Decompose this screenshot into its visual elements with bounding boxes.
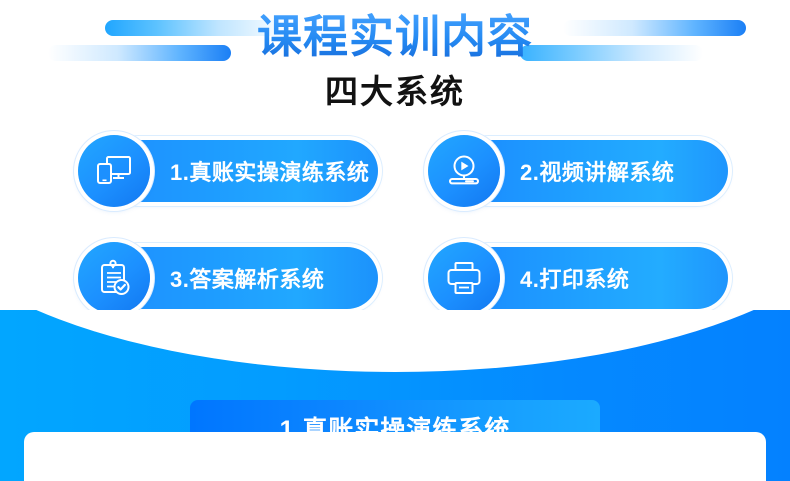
page-title: 课程实训内容 bbox=[0, 8, 790, 66]
system-card-4[interactable]: 4.打印系统 bbox=[428, 247, 728, 309]
video-play-icon bbox=[428, 135, 500, 207]
page-subtitle: 四大系统 bbox=[0, 70, 790, 114]
monitor-devices-icon bbox=[78, 135, 150, 207]
clipboard-check-icon bbox=[78, 242, 150, 314]
system-label-2: 2.视频讲解系统 bbox=[520, 155, 674, 187]
bottom-content-panel bbox=[24, 432, 766, 481]
system-card-2[interactable]: 2.视频讲解系统 bbox=[428, 140, 728, 202]
bottom-section: 1.真账实操演练系统 bbox=[0, 310, 790, 481]
systems-grid: 1.真账实操演练系统 2.视频讲解系统 bbox=[0, 136, 790, 316]
system-label-1: 1.真账实操演练系统 bbox=[170, 155, 369, 187]
system-label-3: 3.答案解析系统 bbox=[170, 262, 324, 294]
system-card-3[interactable]: 3.答案解析系统 bbox=[78, 247, 378, 309]
bottom-curve-shape bbox=[0, 310, 790, 372]
printer-icon bbox=[428, 242, 500, 314]
system-card-1[interactable]: 1.真账实操演练系统 bbox=[78, 140, 378, 202]
page-header: 课程实训内容 四大系统 bbox=[0, 0, 790, 120]
system-label-4: 4.打印系统 bbox=[520, 262, 629, 294]
